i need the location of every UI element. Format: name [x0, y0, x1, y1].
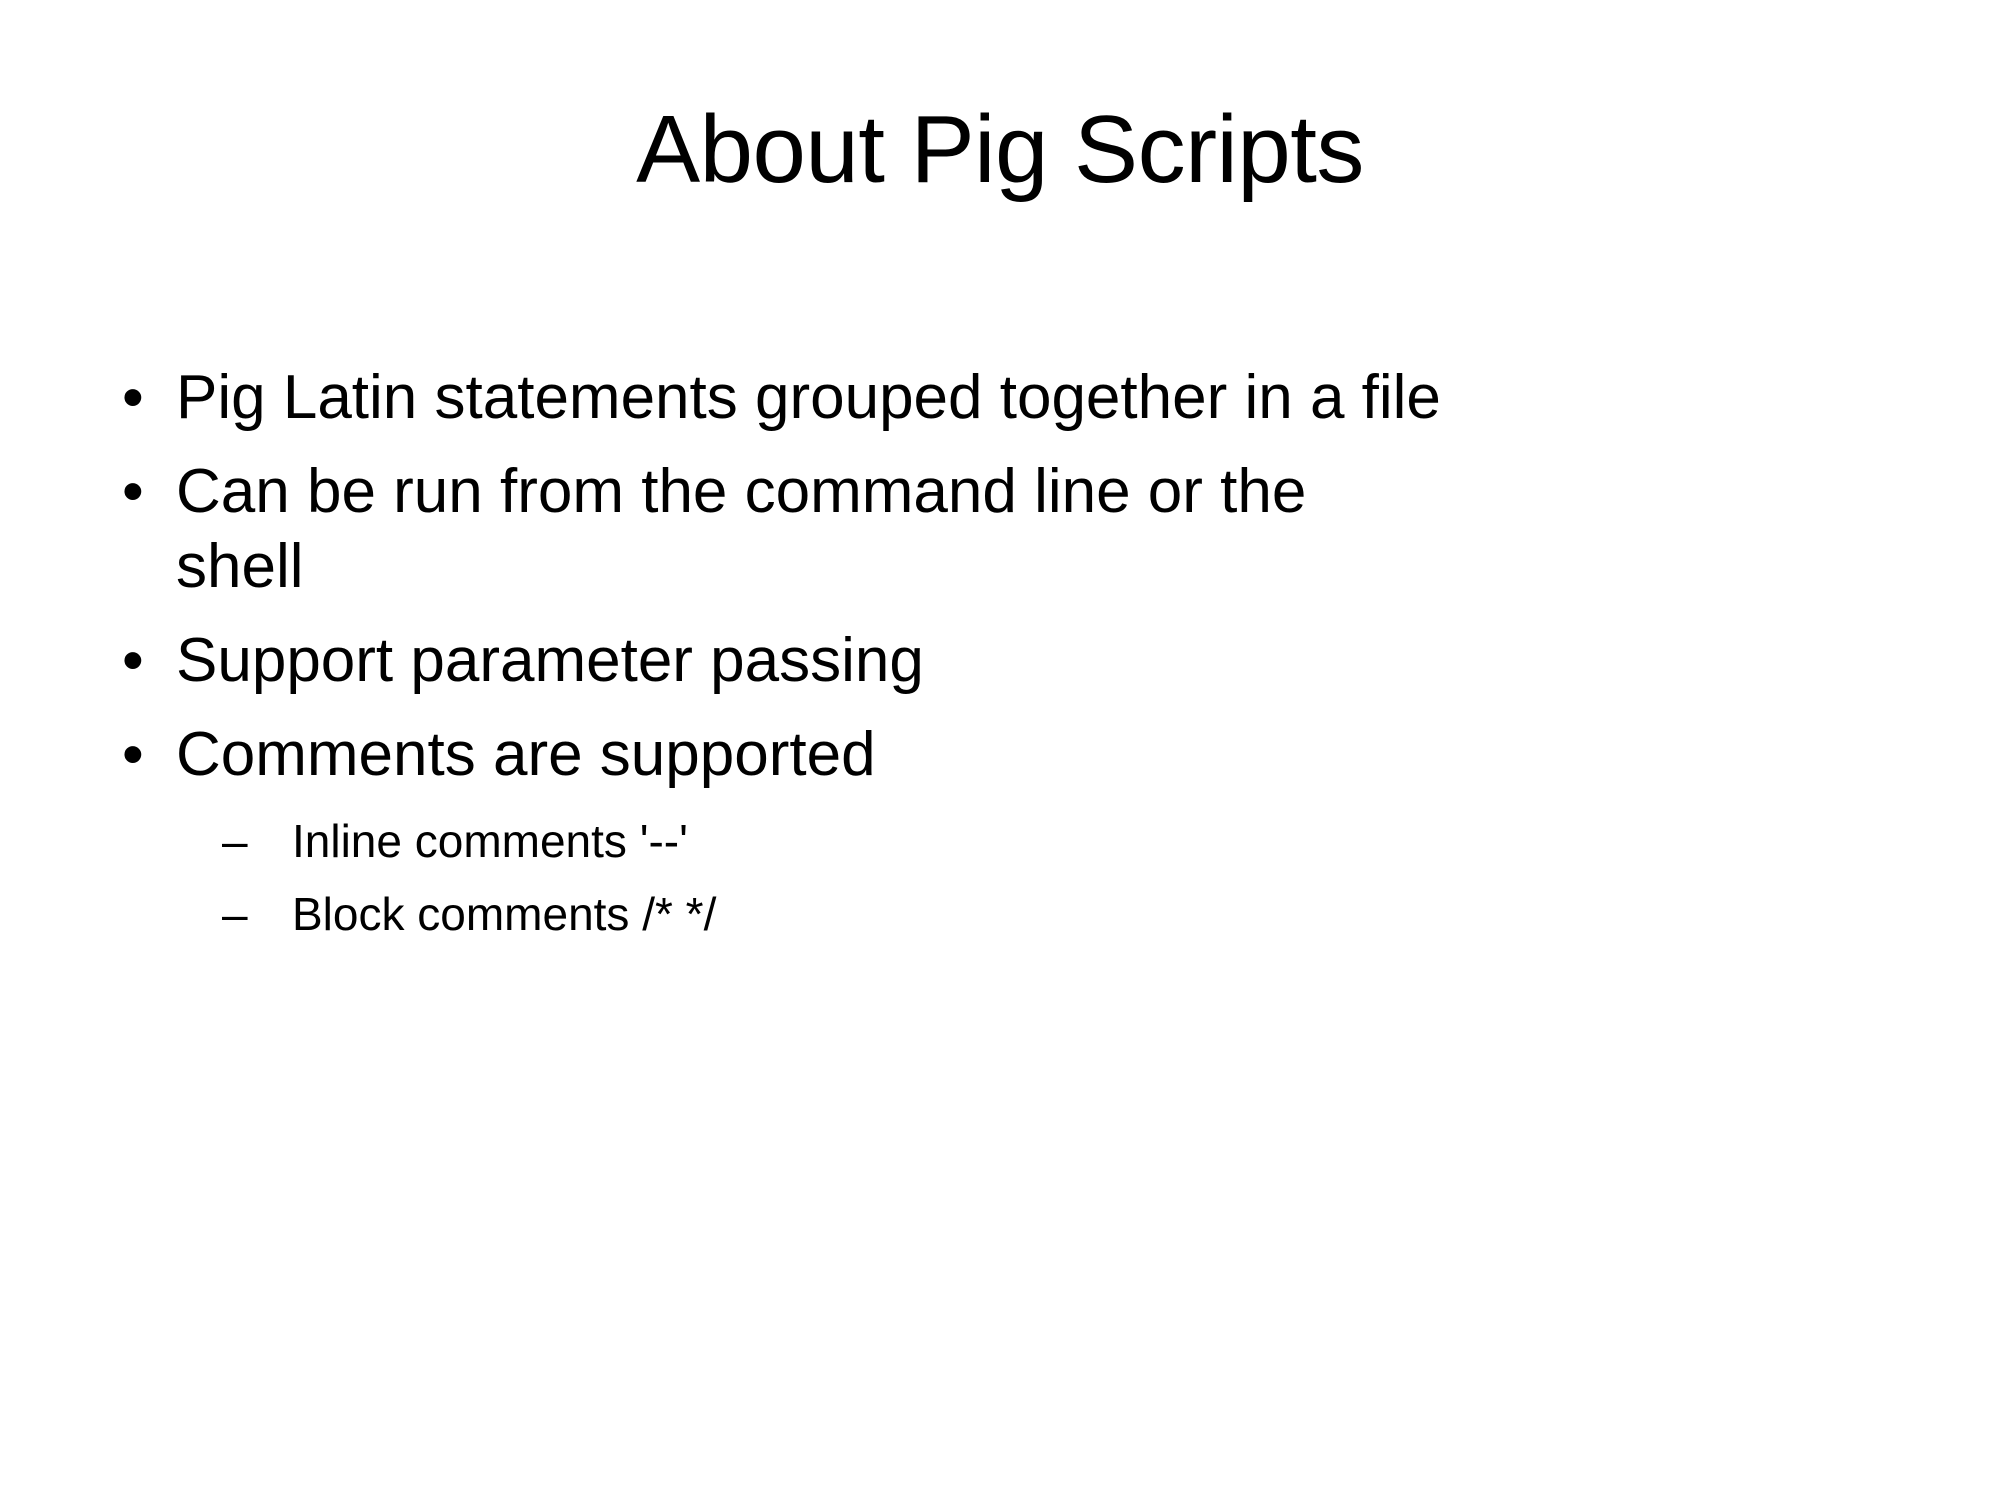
list-item-label: Support parameter passing: [176, 623, 1876, 699]
sub-list-item-label: Block comments /* */: [292, 885, 1910, 944]
list-item: • Support parameter passing: [110, 623, 1910, 699]
dash-marker-icon: –: [222, 885, 292, 944]
bullet-marker-icon: •: [110, 717, 176, 793]
list-item-label-line2: shell: [176, 529, 1876, 605]
sub-bullet-list: – Inline comments '--' – Block comments …: [222, 812, 1910, 944]
sub-list-item-label: Inline comments '--': [292, 812, 1910, 871]
bullet-list: • Pig Latin statements grouped together …: [110, 360, 1910, 958]
bullet-marker-icon: •: [110, 454, 176, 530]
list-item-label: Comments are supported: [176, 717, 1876, 793]
list-item: • Can be run from the command line or th…: [110, 454, 1910, 605]
page-title: About Pig Scripts: [130, 96, 1870, 204]
sub-list-item: – Inline comments '--': [222, 812, 1910, 871]
dash-marker-icon: –: [222, 812, 292, 871]
list-item-label: Can be run from the command line or the …: [176, 454, 1876, 605]
bullet-marker-icon: •: [110, 623, 176, 699]
list-item-label-line1: Can be run from the command line or the: [176, 454, 1876, 530]
list-item: • Pig Latin statements grouped together …: [110, 360, 1910, 436]
slide: About Pig Scripts • Pig Latin statements…: [0, 0, 2000, 1500]
bullet-marker-icon: •: [110, 360, 176, 436]
list-item: • Comments are supported: [110, 717, 1910, 793]
sub-list-item: – Block comments /* */: [222, 885, 1910, 944]
list-item-label: Pig Latin statements grouped together in…: [176, 360, 1876, 436]
